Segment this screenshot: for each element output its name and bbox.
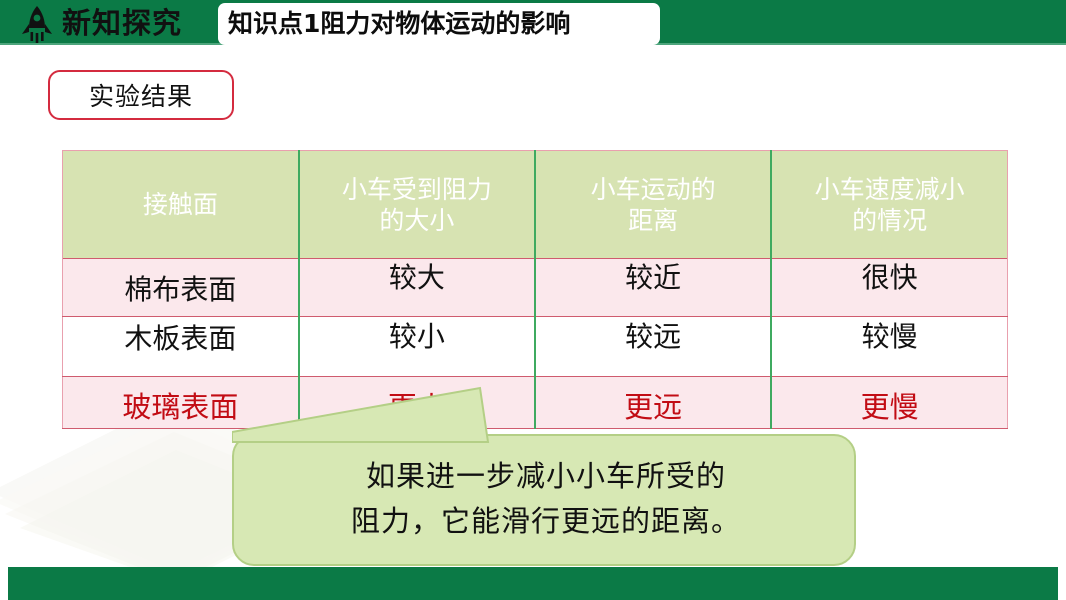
- callout-line-1: 如果进一步减小小车所受的: [234, 454, 858, 499]
- header-line: 距离: [536, 205, 770, 236]
- header-line: 的大小: [300, 205, 534, 236]
- table-row: 玻璃表面 更小 更远 更慢: [63, 377, 1008, 429]
- cell-resistance: 较大: [299, 259, 535, 317]
- header-line: 接触面: [63, 189, 298, 220]
- cell-text: 木板表面: [63, 317, 298, 357]
- cell-deceleration: 很快: [771, 259, 1007, 317]
- section-tag: 实验结果: [48, 70, 234, 120]
- header-line: 的情况: [772, 205, 1007, 236]
- cell-distance: 较近: [535, 259, 771, 317]
- cell-deceleration: 较慢: [771, 317, 1007, 377]
- callout-bubble: 如果进一步减小小车所受的 阻力，它能滑行更远的距离。: [232, 434, 856, 566]
- header-title-text: 知识点1阻力对物体运动的影响: [228, 3, 570, 45]
- cell-text: 较大: [300, 256, 534, 296]
- cell-surface: 木板表面: [63, 317, 299, 377]
- cell-text: 很快: [772, 256, 1007, 296]
- table-row: 棉布表面 较大 较近 很快: [63, 259, 1008, 317]
- callout-tail: [232, 386, 492, 448]
- header-line: 小车受到阻力: [300, 174, 534, 205]
- table-header-cell-resistance: 小车受到阻力 的大小: [299, 151, 535, 259]
- table-header-cell-surface: 接触面: [63, 151, 299, 259]
- experiment-results-table: 接触面 小车受到阻力 的大小 小车运动的 距离 小车速度减小 的情况 棉布表面 …: [62, 150, 1008, 429]
- cell-distance: 更远: [535, 377, 771, 429]
- cell-surface: 棉布表面: [63, 259, 299, 317]
- header-title-plate: 知识点1阻力对物体运动的影响: [218, 3, 660, 45]
- rocket-icon: [18, 4, 56, 44]
- cell-text: 较远: [536, 315, 770, 355]
- callout-line-2: 阻力，它能滑行更远的距离。: [234, 499, 858, 544]
- cell-text: 更远: [536, 384, 770, 426]
- header-section-label: 新知探究: [62, 2, 182, 44]
- top-header-bar: 新知探究 知识点1阻力对物体运动的影响: [0, 0, 1066, 45]
- header-line: 小车速度减小: [772, 174, 1007, 205]
- callout-text: 如果进一步减小小车所受的 阻力，它能滑行更远的距离。: [234, 454, 858, 544]
- header-line: 小车运动的: [536, 174, 770, 205]
- cell-text: 更慢: [772, 384, 1007, 426]
- section-tag-label: 实验结果: [89, 77, 193, 113]
- cell-text: 较近: [536, 256, 770, 296]
- cell-text: 棉布表面: [124, 273, 236, 306]
- bottom-bar: [8, 567, 1058, 600]
- cell-resistance: 较小: [299, 317, 535, 377]
- cell-deceleration: 更慢: [771, 377, 1007, 429]
- table-row: 木板表面 较小 较远 较慢: [63, 317, 1008, 377]
- table-header-row: 接触面 小车受到阻力 的大小 小车运动的 距离 小车速度减小 的情况: [63, 151, 1008, 259]
- cell-text: 较慢: [772, 315, 1007, 355]
- cell-text: 较小: [300, 315, 534, 355]
- table-header-cell-distance: 小车运动的 距离: [535, 151, 771, 259]
- cell-distance: 较远: [535, 317, 771, 377]
- table-header-cell-deceleration: 小车速度减小 的情况: [771, 151, 1007, 259]
